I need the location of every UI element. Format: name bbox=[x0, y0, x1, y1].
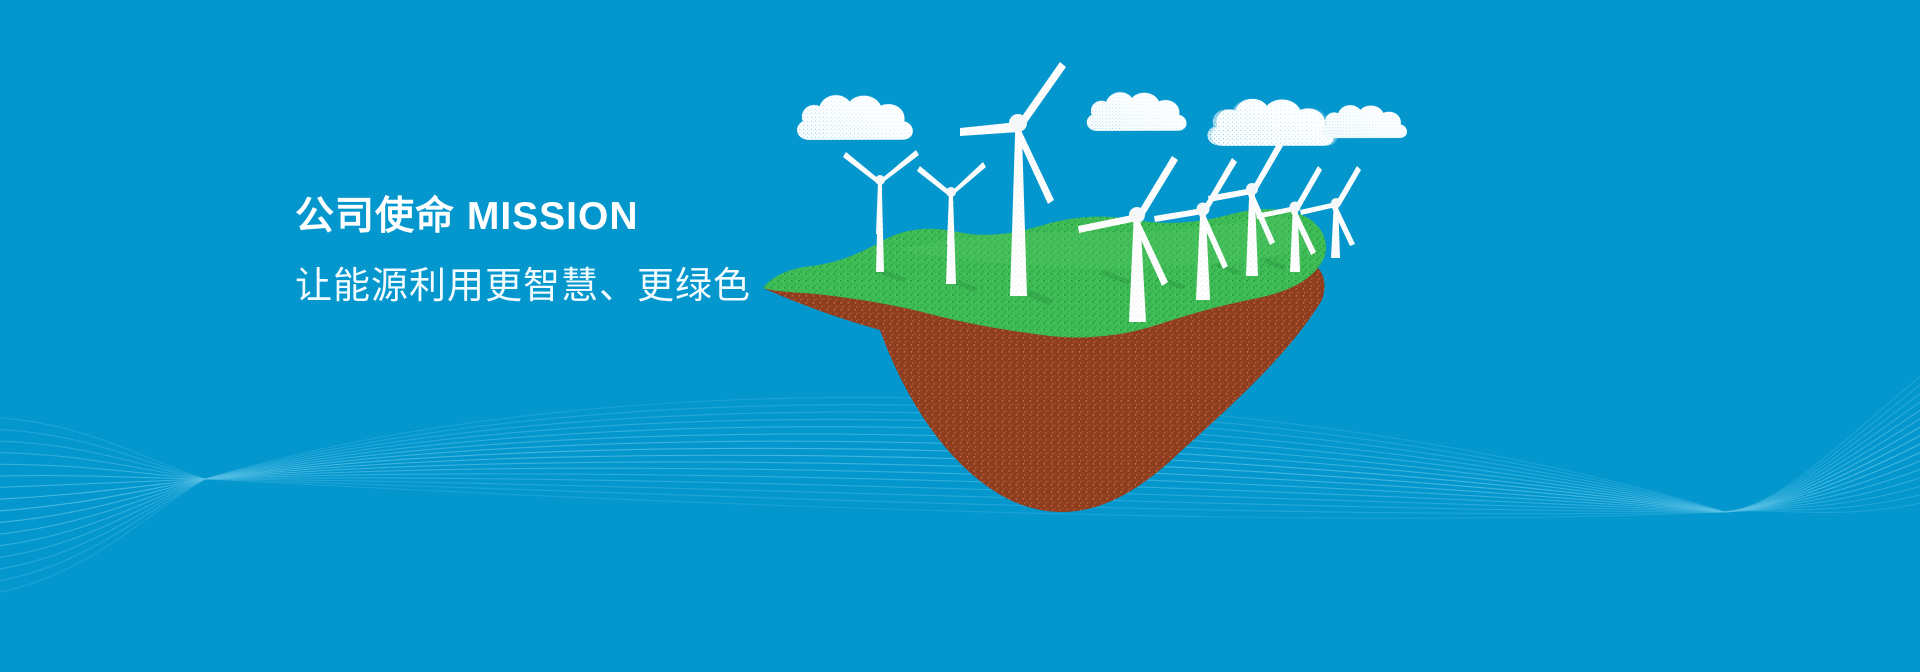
cloud-2 bbox=[1087, 92, 1187, 131]
wind-turbine-6 bbox=[1208, 142, 1283, 276]
turbine-shadows bbox=[876, 258, 1286, 305]
island-illustration bbox=[0, 0, 1920, 672]
wind-turbine-3 bbox=[960, 62, 1066, 296]
page-subtitle: 让能源利用更智慧、更绿色 bbox=[295, 264, 935, 308]
cloud-3 bbox=[1207, 99, 1337, 146]
mission-banner: 公司使命 MISSION 让能源利用更智慧、更绿色 bbox=[0, 0, 1920, 672]
wave-lines-decoration bbox=[0, 0, 1920, 672]
wind-turbine-8 bbox=[1300, 166, 1361, 258]
mission-text-block: 公司使命 MISSION 让能源利用更智慧、更绿色 bbox=[295, 196, 935, 308]
wind-turbine-5 bbox=[1154, 158, 1237, 300]
wind-turbine-7 bbox=[1256, 166, 1322, 272]
cloud-1 bbox=[797, 95, 913, 140]
page-title: 公司使命 MISSION bbox=[295, 196, 935, 239]
cloud-4 bbox=[1322, 105, 1407, 138]
wind-turbine-4 bbox=[1078, 156, 1178, 322]
